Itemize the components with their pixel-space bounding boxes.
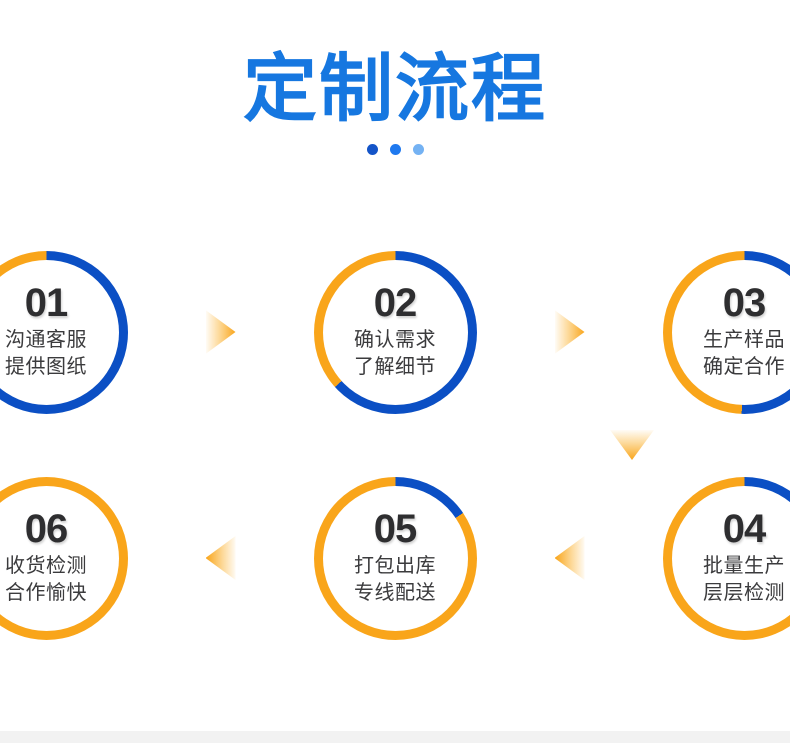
process-step-04-content: 04 批量生产 层层检测 [663,477,790,640]
spacer [136,430,610,460]
arrow-down-container [0,430,790,460]
step-label-line-2: 确定合作 [703,354,785,381]
step-label-line-2: 合作愉快 [5,580,87,607]
step-number: 06 [25,509,68,549]
process-step-04[interactable]: 04 批量生产 层层检测 [663,477,790,640]
page-title: 定制流程 [0,0,790,130]
step-label-line-1: 批量生产 [703,553,785,580]
process-step-05-content: 05 打包出库 专线配送 [314,477,477,640]
arrow-right-icon [555,310,585,354]
process-step-03-content: 03 生产样品 确定合作 [663,251,790,414]
process-row-top: 01 沟通客服 提供图纸 02 确认需求 了解细节 03 生 [0,232,790,432]
decorative-dots [0,144,790,155]
step-label-line-2: 了解细节 [354,354,436,381]
process-step-05[interactable]: 05 打包出库 专线配送 [314,477,477,640]
step-label-line-1: 生产样品 [703,327,785,354]
dot-medium-icon [390,144,401,155]
process-step-01[interactable]: 01 沟通客服 提供图纸 [0,251,128,414]
process-step-02[interactable]: 02 确认需求 了解细节 [314,251,477,414]
arrow-left-icon [555,536,585,580]
customization-process-infographic: 定制流程 01 沟通客服 提供图纸 02 确认需求 [0,0,790,743]
step-number: 05 [374,509,417,549]
process-flow: 01 沟通客服 提供图纸 02 确认需求 了解细节 03 生 [0,232,790,658]
dot-dark-icon [367,144,378,155]
step-number: 03 [723,283,766,323]
arrow-down-icon [610,430,654,460]
arrow-right-icon [206,310,236,354]
step-label-line-1: 收货检测 [5,553,87,580]
step-label-line-1: 沟通客服 [5,327,87,354]
step-label-line-2: 专线配送 [354,580,436,607]
bottom-strip [0,731,790,743]
step-label-line-2: 层层检测 [703,580,785,607]
process-step-01-content: 01 沟通客服 提供图纸 [0,251,128,414]
dot-light-icon [413,144,424,155]
header: 定制流程 [0,0,790,155]
step-number: 04 [723,509,766,549]
process-step-03[interactable]: 03 生产样品 确定合作 [663,251,790,414]
step-label-line-1: 打包出库 [354,553,436,580]
process-step-06-content: 06 收货检测 合作愉快 [0,477,128,640]
step-label-line-2: 提供图纸 [5,354,87,381]
step-number: 01 [25,283,68,323]
process-step-02-content: 02 确认需求 了解细节 [314,251,477,414]
step-number: 02 [374,283,417,323]
step-label-line-1: 确认需求 [354,327,436,354]
process-row-bottom: 06 收货检测 合作愉快 05 打包出库 专线配送 04 批 [0,458,790,658]
process-step-06[interactable]: 06 收货检测 合作愉快 [0,477,128,640]
arrow-left-icon [206,536,236,580]
